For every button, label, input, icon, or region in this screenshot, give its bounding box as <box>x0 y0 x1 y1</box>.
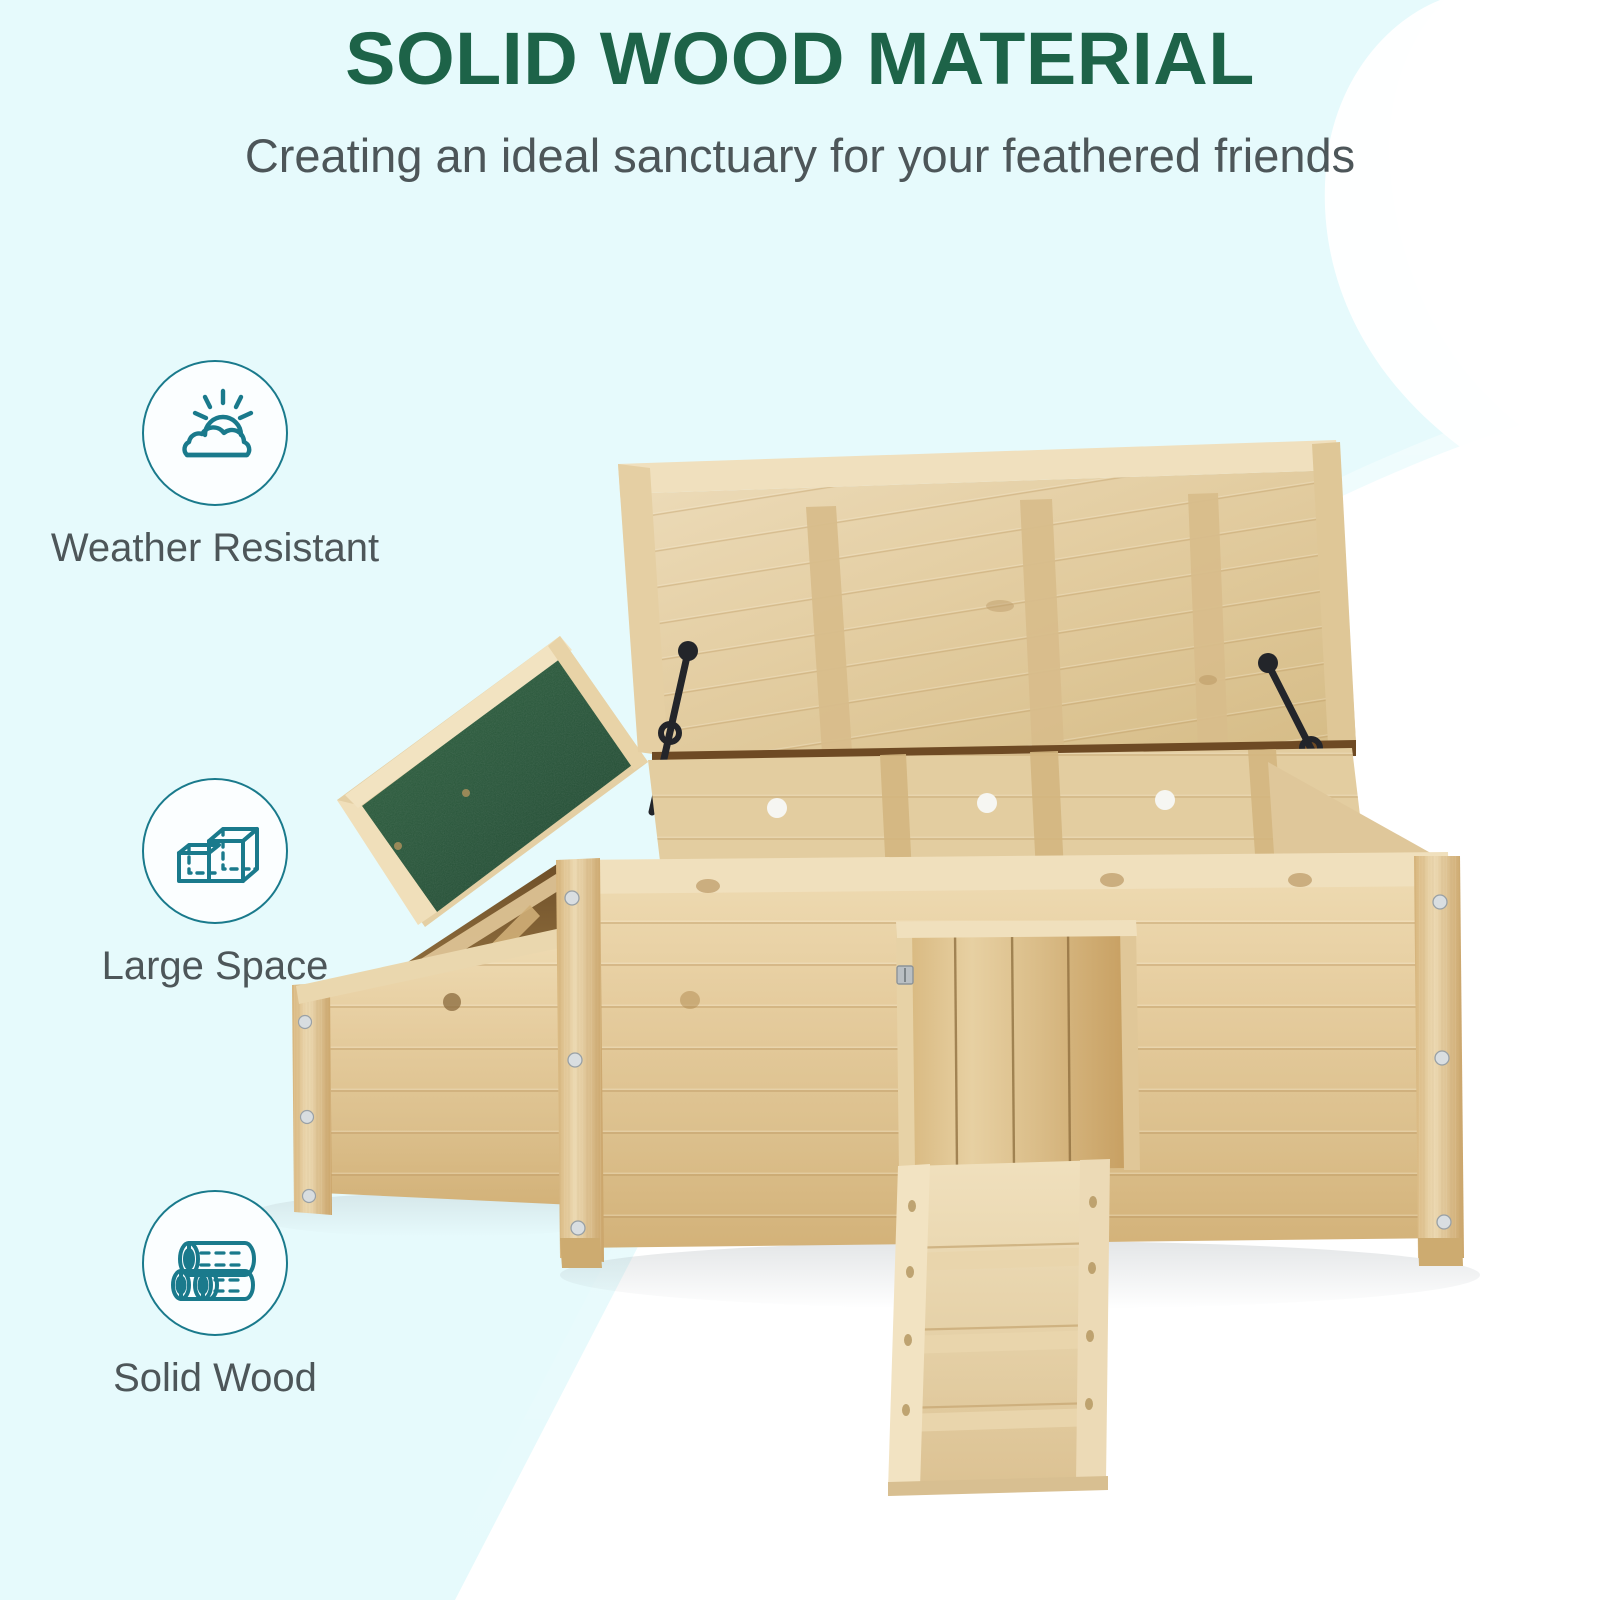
door-left-jamb <box>896 928 915 1172</box>
feature-icon-circle <box>142 1190 288 1336</box>
header-block: SOLID WOOD MATERIAL Creating an ideal sa… <box>0 0 1600 179</box>
access-ramp <box>888 1159 1110 1496</box>
door-latch-icon <box>897 966 913 984</box>
lid-knot-1 <box>986 600 1014 612</box>
infographic-canvas: SOLID WOOD MATERIAL Creating an ideal sa… <box>0 0 1600 1600</box>
open-lid-panel <box>618 440 1356 768</box>
ramp-deck <box>900 1160 1104 1486</box>
door-panel <box>905 927 1128 1170</box>
page-title: SOLID WOOD MATERIAL <box>0 22 1600 96</box>
boxes-3d-icon <box>165 801 265 901</box>
feature-label: Solid Wood <box>0 1358 430 1398</box>
page-subtitle: Creating an ideal sanctuary for your fea… <box>0 132 1600 179</box>
nesting-box-vent-hole <box>443 993 461 1011</box>
coop-leg-left <box>560 1238 602 1268</box>
coop-leg-right <box>1418 1238 1463 1266</box>
coop-interior-batten-b <box>1030 751 1064 873</box>
entry-door-opening <box>896 920 1140 1172</box>
roof-screw-2 <box>462 789 470 797</box>
log-stack-icon <box>165 1213 265 1313</box>
nesting-box-post-grain <box>292 982 332 1215</box>
lid-knot-2 <box>1199 675 1217 685</box>
feature-item-large-space: Large Space <box>0 778 430 986</box>
feature-item-weather-resistant: Weather Resistant <box>0 360 430 568</box>
feature-label: Weather Resistant <box>0 528 430 568</box>
feature-icon-circle <box>142 360 288 506</box>
door-header-board <box>896 920 1137 938</box>
feature-item-solid-wood: Solid Wood <box>0 1190 430 1398</box>
feature-label: Large Space <box>0 946 430 986</box>
feature-icon-circle <box>142 778 288 924</box>
lid-underside-planks <box>620 470 1356 758</box>
sun-cloud-icon <box>165 383 265 483</box>
